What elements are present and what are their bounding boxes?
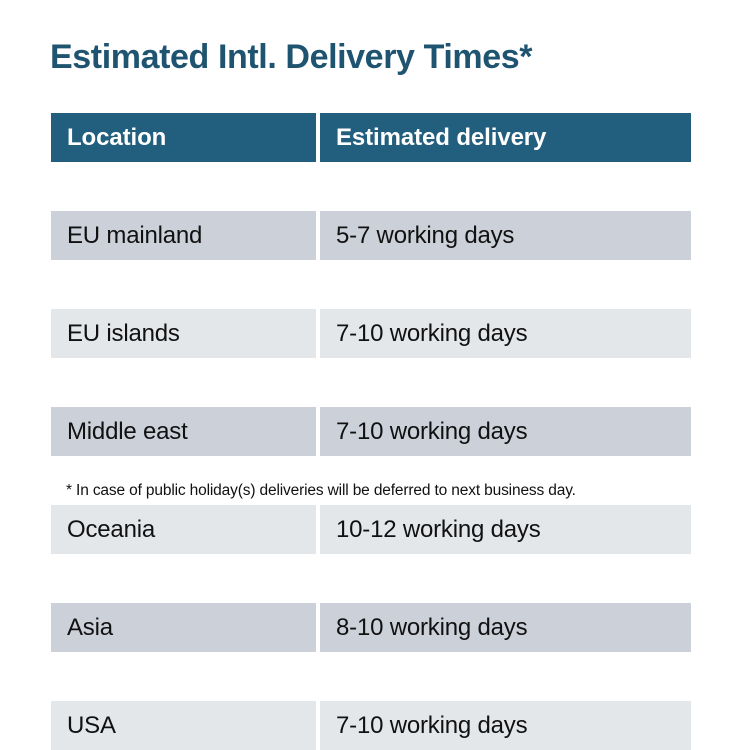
table-row: USA 7-10 working days xyxy=(51,701,691,750)
row-separator-cell xyxy=(51,260,316,309)
cell-delivery: 7-10 working days xyxy=(320,309,691,358)
row-separator xyxy=(51,260,691,309)
cell-delivery: 10-12 working days xyxy=(320,505,691,554)
table-row: EU islands 7-10 working days xyxy=(51,309,691,358)
table-row: EU mainland 5-7 working days xyxy=(51,211,691,260)
cell-location: USA xyxy=(51,701,316,750)
cell-location: EU islands xyxy=(51,309,316,358)
row-separator xyxy=(51,358,691,407)
column-header-delivery: Estimated delivery xyxy=(320,113,691,162)
row-separator-cell xyxy=(320,260,691,309)
cell-location: EU mainland xyxy=(51,211,316,260)
cell-location: Asia xyxy=(51,603,316,652)
row-separator xyxy=(51,652,691,701)
row-separator-cell xyxy=(51,652,316,701)
cell-delivery: 7-10 working days xyxy=(320,701,691,750)
location-label: Asia xyxy=(67,613,113,643)
table-header-row: Location Estimated delivery xyxy=(51,113,691,162)
delivery-label: 10-12 working days xyxy=(336,515,541,545)
row-separator-cell xyxy=(320,554,691,603)
table-row: Asia 8-10 working days xyxy=(51,603,691,652)
page-title: Estimated Intl. Delivery Times* xyxy=(50,36,532,78)
delivery-label: 8-10 working days xyxy=(336,613,527,643)
row-separator xyxy=(51,554,691,603)
cell-delivery: 7-10 working days xyxy=(320,407,691,456)
row-separator-cell xyxy=(51,162,316,211)
location-label: EU islands xyxy=(67,319,180,349)
row-separator-cell xyxy=(51,358,316,407)
row-separator-cell xyxy=(51,554,316,603)
row-separator-cell xyxy=(320,358,691,407)
delivery-times-table: Location Estimated delivery EU mainland … xyxy=(51,113,691,750)
location-label: USA xyxy=(67,711,116,741)
cell-location: Middle east xyxy=(51,407,316,456)
row-separator-cell xyxy=(320,162,691,211)
column-header-location: Location xyxy=(51,113,316,162)
cell-delivery: 8-10 working days xyxy=(320,603,691,652)
table-row: Oceania 10-12 working days xyxy=(51,505,691,554)
row-separator xyxy=(51,162,691,211)
location-label: EU mainland xyxy=(67,221,202,251)
location-label: Middle east xyxy=(67,417,188,447)
cell-delivery: 5-7 working days xyxy=(320,211,691,260)
delivery-times-card: Estimated Intl. Delivery Times* Location… xyxy=(0,0,745,536)
delivery-label: 7-10 working days xyxy=(336,319,527,349)
delivery-label: 5-7 working days xyxy=(336,221,514,251)
table-row: Middle east 7-10 working days xyxy=(51,407,691,456)
cell-location: Oceania xyxy=(51,505,316,554)
delivery-label: 7-10 working days xyxy=(336,417,527,447)
row-separator-cell xyxy=(320,652,691,701)
delivery-label: 7-10 working days xyxy=(336,711,527,741)
location-label: Oceania xyxy=(67,515,155,545)
footnote: * In case of public holiday(s) deliverie… xyxy=(66,481,576,501)
